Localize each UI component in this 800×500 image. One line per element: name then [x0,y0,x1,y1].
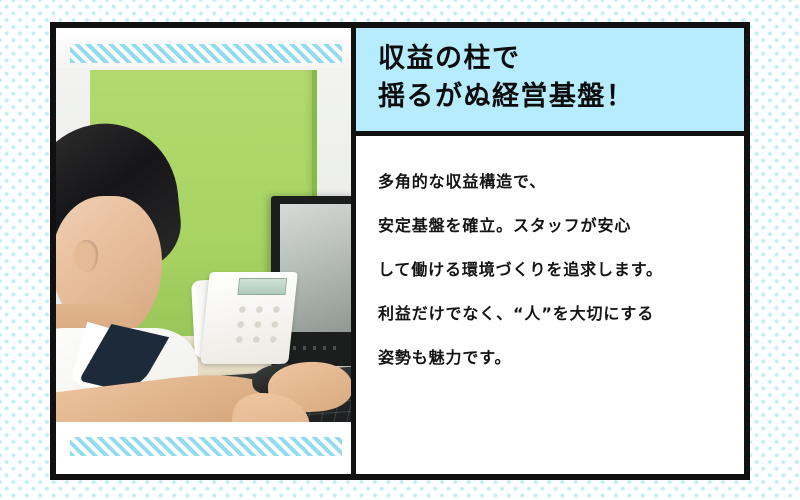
person-ear [74,240,98,272]
text-panel: 収益の柱で 揺るがぬ経営基盤！ 多角的な収益構造で、 安定基盤を確立。スタッフが… [356,28,744,474]
content-card: 収益の柱で 揺るがぬ経営基盤！ 多角的な収益構造で、 安定基盤を確立。スタッフが… [50,22,750,480]
washi-tape-top [70,44,342,63]
body-line-3: して働ける環境づくりを追求します。 [378,248,744,292]
headline-line-2: 揺るがぬ経営基盤！ [378,78,744,116]
photo-panel [56,28,356,474]
body-line-1: 多角的な収益構造で、 [378,160,744,204]
body-line-2: 安定基盤を確立。スタッフが安心 [378,204,744,248]
headline-line-1: 収益の柱で [378,40,744,78]
washi-tape-bottom [70,437,342,456]
phone-keypad [230,302,287,350]
monitor-buttons [283,346,339,350]
phone-display [237,278,287,295]
headline-band: 収益の柱で 揺るがぬ経営基盤！ [356,28,744,136]
desk-phone [200,272,298,364]
body-block: 多角的な収益構造で、 安定基盤を確立。スタッフが安心 して働ける環境づくりを追求… [356,136,744,474]
body-line-4: 利益だけでなく、“人”を大切にする [378,292,744,336]
body-line-5: 姿勢も魅力です。 [378,336,744,380]
photo-top-margin [56,28,351,39]
